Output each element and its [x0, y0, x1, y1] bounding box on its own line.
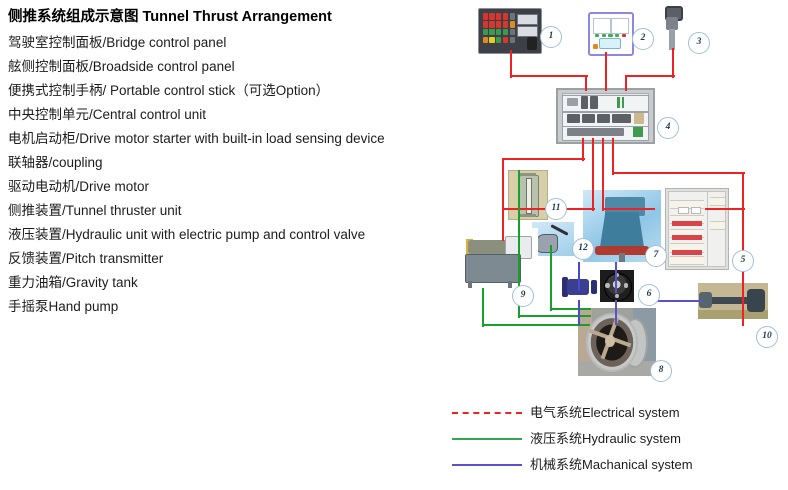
legend-row-mechanical: 机械系统Machanical system	[452, 452, 788, 478]
hydraulic-unit-icon	[460, 228, 538, 288]
badge-9: 9	[512, 285, 534, 307]
broadside-control-panel-icon	[588, 12, 634, 56]
drive-motor-starter-icon	[665, 188, 729, 270]
hand-pump-icon	[532, 222, 574, 256]
list-item-pitch-transmitter: 反馈装置/Pitch transmitter	[8, 247, 463, 271]
list-item-gravity-tank: 重力油箱/Gravity tank	[8, 271, 463, 295]
central-control-unit-icon	[556, 88, 655, 144]
badge-5: 5	[732, 250, 754, 272]
badge-8: 8	[650, 360, 672, 382]
wire-electrical-panel1-down	[510, 50, 512, 78]
legend-swatch-mechanical	[452, 464, 522, 466]
wire-electrical-ccu-out-c	[602, 138, 604, 211]
badge-6: 6	[638, 284, 660, 306]
list-item-bridge-control-panel: 驾驶室控制面板/Bridge control panel	[8, 31, 463, 55]
wire-electrical-ccu-out-b	[592, 138, 594, 211]
list-item-central-control-unit: 中央控制单元/Central control unit	[8, 103, 463, 127]
coupling-icon	[600, 270, 634, 302]
node-hydraulic-unit[interactable]	[460, 228, 538, 288]
badge-7: 7	[645, 245, 667, 267]
node-tunnel-thruster-unit[interactable]	[578, 308, 656, 376]
badge-11: 11	[545, 198, 567, 220]
badge-1: 1	[540, 26, 562, 48]
wire-electrical-left-down	[502, 158, 504, 211]
list-item-drive-motor: 驱动电动机/Drive motor	[8, 175, 463, 199]
badge-4: 4	[657, 117, 679, 139]
node-central-control-unit[interactable]	[556, 88, 651, 140]
wire-electrical-to-hydraulic-unit	[502, 208, 504, 241]
wire-hydraulic-handpump-down	[550, 245, 552, 311]
wire-electrical-into-cabinet	[705, 208, 745, 210]
wire-mechanical-motor-shaft-lower	[578, 300, 580, 325]
list-item-hydraulic-unit: 液压装置/Hydraulic unit with electric pump a…	[8, 223, 463, 247]
badge-12: 12	[572, 238, 594, 260]
bridge-control-panel-icon	[478, 8, 542, 54]
wire-hydraulic-tank-to-thruster-h	[518, 315, 591, 317]
wire-electrical-panel1-right	[510, 75, 588, 77]
list-item-portable-control-stick: 便携式控制手柄/ Portable control stick（可选Option…	[8, 79, 463, 103]
node-hand-pump[interactable]	[532, 222, 574, 256]
node-coupling[interactable]	[600, 270, 634, 302]
wire-mechanical-thruster-to-pitch	[655, 300, 703, 302]
wire-electrical-bus-right-down	[625, 75, 627, 91]
page-title: 侧推系统组成示意图 Tunnel Thrust Arrangement	[8, 6, 463, 28]
list-item-hand-pump: 手摇泵Hand pump	[8, 295, 463, 319]
node-portable-control-stick[interactable]	[658, 6, 686, 50]
wire-hydraulic-tank-down	[518, 170, 520, 288]
wire-electrical-to-cabinet-top	[612, 172, 745, 174]
list-item-coupling: 联轴器/coupling	[8, 151, 463, 175]
wire-electrical-panel3-down	[672, 48, 674, 78]
wire-electrical-ccu-to-left	[502, 158, 585, 160]
wire-mechanical-coupling-to-thruster	[615, 300, 617, 325]
wire-hydraulic-unit-down	[482, 288, 484, 327]
wire-hydraulic-handpump-to-thruster	[550, 308, 591, 310]
wire-electrical-panel2-down	[605, 52, 607, 91]
wire-electrical-to-motor	[602, 208, 655, 210]
gravity-tank-icon	[508, 170, 548, 220]
tunnel-thruster-unit-icon	[578, 308, 656, 376]
node-gravity-tank[interactable]	[508, 170, 546, 218]
list-item-broadside-control-panel: 舷侧控制面板/Broadside control panel	[8, 55, 463, 79]
node-bridge-control-panel[interactable]	[478, 8, 540, 52]
wire-electrical-ccu-out-d	[612, 138, 614, 175]
list-item-drive-motor-starter: 电机启动柜/Drive motor starter with built-in …	[8, 127, 463, 151]
list-item-tunnel-thruster-unit: 侧推装置/Tunnel thruster unit	[8, 199, 463, 223]
badge-3: 3	[688, 32, 710, 54]
legend-row-electrical: 电气系统Electrical system	[452, 400, 788, 426]
node-broadside-control-panel[interactable]	[588, 12, 630, 52]
legend-swatch-hydraulic	[452, 438, 522, 440]
legend-row-hydraulic: 液压系统Hydraulic system	[452, 426, 788, 452]
badge-2: 2	[632, 28, 654, 50]
legend-label-hydraulic: 液压系统Hydraulic system	[530, 426, 681, 452]
node-drive-motor-starter[interactable]	[665, 188, 727, 268]
wire-electrical-cabinet-down	[742, 172, 744, 211]
wire-electrical-panel3-left	[625, 75, 675, 77]
legend-label-mechanical: 机械系统Machanical system	[530, 452, 693, 478]
legend-swatch-electrical	[452, 412, 522, 414]
wire-hydraulic-unit-to-thruster	[482, 324, 590, 326]
system-schematic: 1 2 3	[460, 0, 788, 400]
diagram-page: 侧推系统组成示意图 Tunnel Thrust Arrangement 驾驶室控…	[0, 0, 788, 490]
wire-mechanical-motor-shaft-upper	[578, 262, 580, 291]
legend-key: 电气系统Electrical system 液压系统Hydraulic syst…	[452, 400, 788, 490]
pitch-transmitter-icon	[698, 283, 768, 319]
component-list: 侧推系统组成示意图 Tunnel Thrust Arrangement 驾驶室控…	[8, 6, 463, 319]
node-pitch-transmitter[interactable]	[698, 283, 768, 319]
wire-mechanical-motor-to-coupling	[615, 262, 617, 293]
portable-control-stick-icon	[658, 6, 686, 50]
legend-label-electrical: 电气系统Electrical system	[530, 400, 680, 426]
wire-electrical-bus-left-down	[585, 75, 587, 91]
badge-10: 10	[756, 326, 778, 348]
